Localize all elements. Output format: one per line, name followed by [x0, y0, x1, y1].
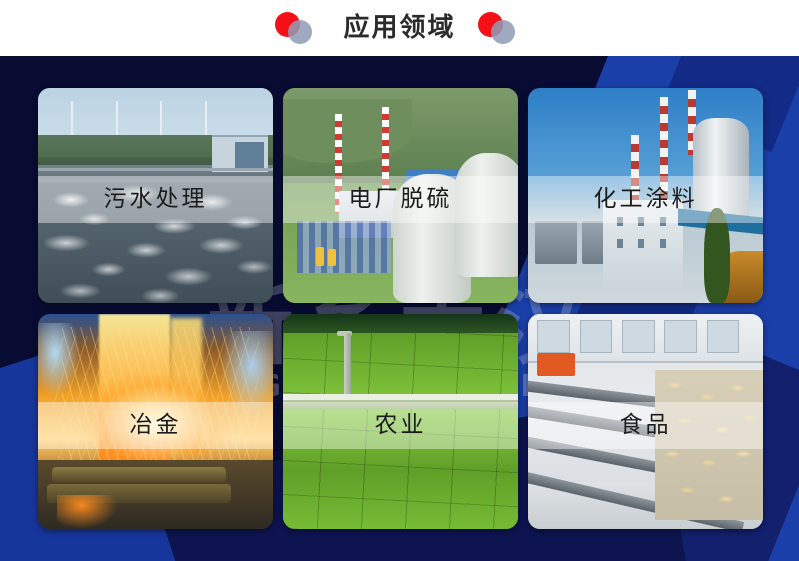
- page-title: 应用领域: [343, 15, 455, 41]
- circles-decoration-right-icon: [478, 11, 524, 45]
- card-label-band: 食品: [528, 402, 763, 449]
- card-label: 农业: [375, 414, 427, 437]
- card-label: 电厂脱硫: [349, 188, 453, 211]
- gray-circle-icon: [288, 20, 312, 44]
- application-card[interactable]: 污水处理: [38, 88, 273, 303]
- banner-background: 污水处理 电厂脱硫: [0, 56, 799, 561]
- application-areas-banner: 应用领域: [0, 0, 799, 561]
- card-label-band: 电厂脱硫: [283, 176, 518, 223]
- card-label: 冶金: [130, 414, 182, 437]
- application-card[interactable]: 农业: [283, 314, 518, 529]
- card-label-band: 农业: [283, 402, 518, 449]
- card-label-band: 污水处理: [38, 176, 273, 223]
- circles-decoration-left-icon: [275, 11, 321, 45]
- application-cards-grid: 污水处理 电厂脱硫: [38, 88, 768, 529]
- application-card[interactable]: 化工涂料: [528, 88, 763, 303]
- application-card[interactable]: 食品: [528, 314, 763, 529]
- card-label: 化工涂料: [594, 188, 698, 211]
- application-card[interactable]: 冶金: [38, 314, 273, 529]
- application-card[interactable]: 电厂脱硫: [283, 88, 518, 303]
- card-label: 污水处理: [104, 188, 208, 211]
- card-label-band: 化工涂料: [528, 176, 763, 223]
- card-label: 食品: [620, 414, 672, 437]
- card-label-band: 冶金: [38, 402, 273, 449]
- gray-circle-icon: [491, 20, 515, 44]
- page-header: 应用领域: [0, 0, 799, 56]
